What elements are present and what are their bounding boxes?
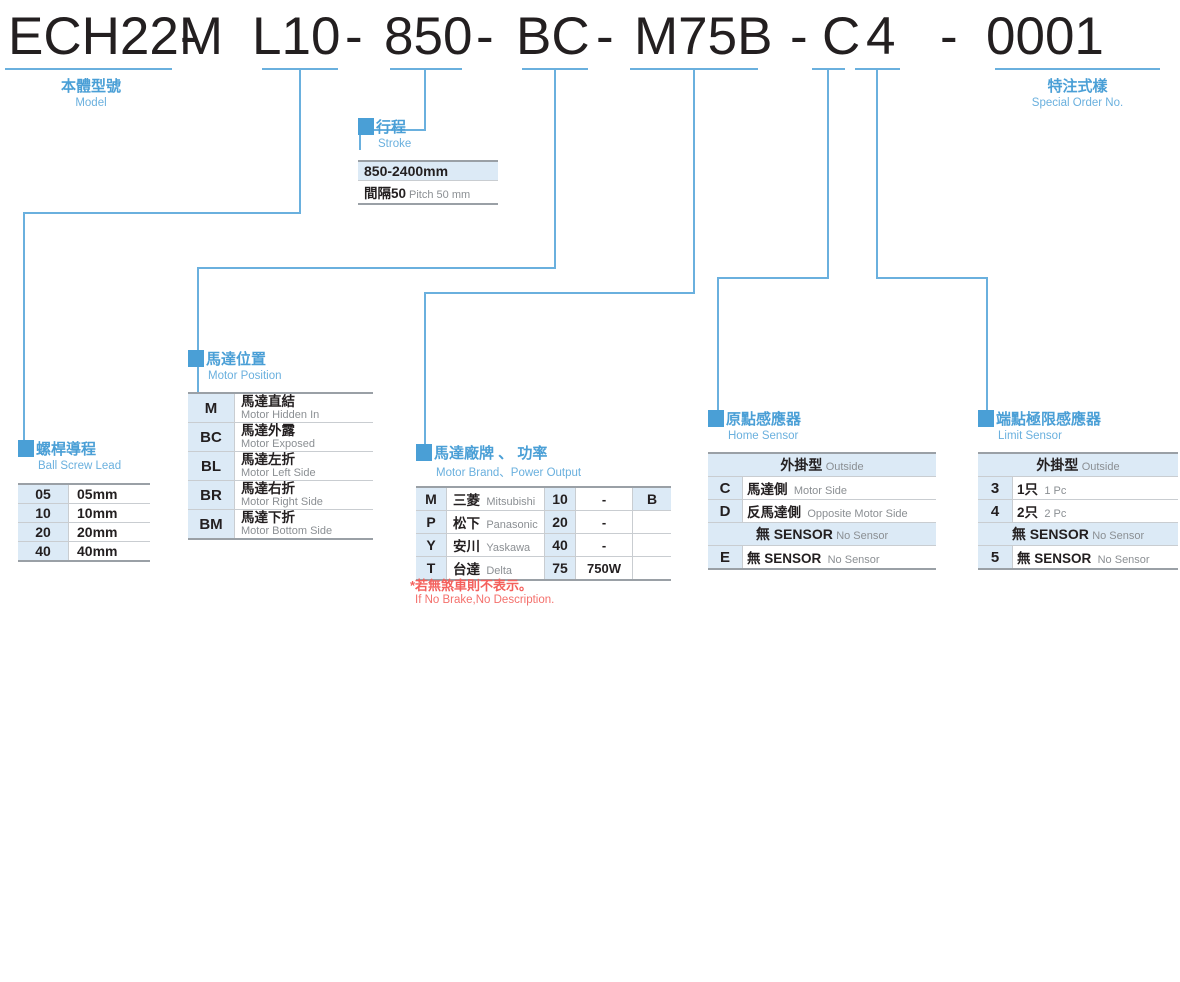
limit-sensor-desc: 無 SENSOR No Sensor [1013, 546, 1179, 570]
stroke-pitch-en: Pitch 50 mm [409, 189, 470, 201]
cell-zh: 無 SENSOR [1012, 526, 1089, 542]
table-row[interactable]: 4040mm [18, 542, 150, 562]
bullet-square-icon [18, 440, 34, 457]
cell-en: No Sensor [1092, 530, 1144, 542]
table-row: 外掛型 Outside [978, 453, 1178, 477]
group-motor-position-zh: 馬達位置 [206, 351, 266, 368]
cell-zh: 馬達下折 [241, 511, 369, 525]
group-special-order: 特注式樣 Special Order No. [1010, 78, 1145, 109]
group-special-order-zh: 特注式樣 [1047, 78, 1107, 95]
motor-brand-note: *若無煞車則不表示。 If No Brake,No Description. [410, 578, 554, 607]
group-motor-position-en: Motor Position [208, 370, 282, 382]
ball-screw-lead-table: 0505mm1010mm2020mm4040mm [18, 483, 150, 562]
group-ball-screw-lead-en: Ball Screw Lead [38, 460, 121, 472]
cell-zh: 2只 [1017, 505, 1038, 520]
cell-zh: 馬達外露 [241, 424, 369, 438]
motor-position-desc: 馬達外露Motor Exposed [235, 423, 374, 452]
motor-power-code: 40 [545, 534, 576, 557]
motor-brake-code [633, 534, 672, 557]
table-row[interactable]: M三菱 Mitsubishi10-B [416, 487, 671, 511]
motor-brake-code: B [633, 487, 672, 511]
cell-en: Yaskawa [486, 542, 530, 554]
stroke-range: 850-2400mm [358, 161, 498, 181]
home-sensor-body: 外掛型 OutsideC馬達側 Motor SideD反馬達側 Opposite… [708, 453, 936, 569]
motor-position-code: BC [188, 423, 235, 452]
group-motor-brand-en: Motor Brand、Power Output [436, 464, 581, 480]
motor-position-desc: 馬達左折Motor Left Side [235, 452, 374, 481]
motor-power-value: - [576, 534, 633, 557]
limit-sensor-body: 外掛型 Outside31只 1 Pc42只 2 Pc無 SENSOR No S… [978, 453, 1178, 569]
motor-brand-code: T [416, 557, 447, 581]
limit-sensor-desc: 1只 1 Pc [1013, 477, 1179, 500]
table-row[interactable]: 2020mm [18, 523, 150, 542]
cell-en: 1 Pc [1044, 485, 1066, 497]
pn-seg-1: L10 [252, 6, 340, 67]
cell-en: Outside [826, 461, 864, 473]
home-sensor-table: 外掛型 OutsideC馬達側 Motor SideD反馬達側 Opposite… [708, 452, 936, 570]
bullet-square-icon [416, 444, 432, 461]
cell-zh: 1只 [1017, 482, 1038, 497]
cell-zh: 台達 [453, 562, 480, 577]
cell-zh: 無 SENSOR [756, 526, 833, 542]
motor-position-desc: 馬達直結Motor Hidden In [235, 393, 374, 423]
motor-position-desc: 馬達下折Motor Bottom Side [235, 510, 374, 540]
cell-en: Delta [486, 565, 512, 577]
motor-position-body: M馬達直結Motor Hidden InBC馬達外露Motor ExposedB… [188, 393, 373, 539]
motor-power-code: 10 [545, 487, 576, 511]
motor-brand-note-en: If No Brake,No Description. [410, 593, 554, 607]
cell-en: 2 Pc [1044, 508, 1066, 520]
ball-screw-lead-body: 0505mm1010mm2020mm4040mm [18, 484, 150, 561]
table-row: 外掛型 Outside [708, 453, 936, 477]
pn-seg-2: 850 [384, 6, 472, 67]
motor-position-table: M馬達直結Motor Hidden InBC馬達外露Motor ExposedB… [188, 392, 373, 540]
cell-en: Motor Bottom Side [241, 525, 369, 537]
motor-brand-name: 台達 Delta [447, 557, 545, 581]
group-motor-brand-zh: 馬達廠牌 、 功率 [434, 445, 547, 462]
pn-seg-3: BC [516, 6, 590, 67]
group-limit-sensor-zh: 端點極限感應器 [996, 411, 1101, 428]
part-number: ECH22M - L10 - 850 - BC - M75B - C 4 - 0… [0, 6, 1180, 68]
home-sensor-code: D [708, 500, 743, 523]
motor-brand-name: 安川 Yaskawa [447, 534, 545, 557]
bullet-square-icon [978, 410, 994, 427]
table-row[interactable]: 1010mm [18, 504, 150, 523]
cell-en: No Sensor [828, 554, 880, 566]
motor-position-code: M [188, 393, 235, 423]
motor-position-code: BR [188, 481, 235, 510]
home-sensor-code: C [708, 477, 743, 500]
stroke-pitch: 間隔50Pitch 50 mm [358, 181, 498, 205]
table-row[interactable]: 5無 SENSOR No Sensor [978, 546, 1178, 570]
sensor-section-header: 外掛型 Outside [978, 453, 1178, 477]
motor-brand-code: P [416, 511, 447, 534]
motor-power-value: - [576, 511, 633, 534]
cell-zh: 外掛型 [1036, 457, 1078, 473]
sensor-section-header: 無 SENSOR No Sensor [978, 523, 1178, 546]
cell-en: Mitsubishi [486, 496, 535, 508]
motor-position-code: BM [188, 510, 235, 540]
group-model: 本體型號 Model [36, 78, 146, 109]
table-row[interactable]: 42只 2 Pc [978, 500, 1178, 523]
motor-brake-code [633, 511, 672, 534]
motor-position-code: BL [188, 452, 235, 481]
table-row[interactable]: P松下 Panasonic20- [416, 511, 671, 534]
group-home-sensor-en: Home Sensor [728, 430, 801, 442]
stroke-table: 850-2400mm 間隔50Pitch 50 mm [358, 160, 498, 205]
pn-seg-5: C [822, 6, 860, 67]
bullet-square-icon [708, 410, 724, 427]
table-row[interactable]: 0505mm [18, 484, 150, 504]
home-sensor-desc: 反馬達側 Opposite Motor Side [743, 500, 937, 523]
cell-en: No Sensor [836, 530, 888, 542]
home-sensor-desc: 無 SENSOR No Sensor [743, 546, 937, 570]
cell-en: Motor Left Side [241, 467, 369, 479]
motor-brand-code: Y [416, 534, 447, 557]
bullet-square-icon [358, 118, 374, 135]
home-sensor-code: E [708, 546, 743, 570]
pn-dash-5: - [940, 6, 958, 67]
motor-brand-name: 松下 Panasonic [447, 511, 545, 534]
cell-en: Panasonic [486, 519, 537, 531]
table-row[interactable]: BR馬達右折Motor Right Side [188, 481, 373, 510]
cell-en: Motor Exposed [241, 438, 369, 450]
cell-zh: 馬達右折 [241, 482, 369, 496]
motor-power-value: - [576, 487, 633, 511]
group-motor-position: 馬達位置 Motor Position [188, 350, 282, 382]
table-row[interactable]: E無 SENSOR No Sensor [708, 546, 936, 570]
group-motor-brand: 馬達廠牌 、 功率 Motor Brand、Power Output [416, 444, 581, 480]
lead-value: 05mm [69, 484, 151, 504]
cell-zh: 三菱 [453, 493, 480, 508]
cell-en: Outside [1082, 461, 1120, 473]
table-row[interactable]: BC馬達外露Motor Exposed [188, 423, 373, 452]
cell-zh: 反馬達側 [747, 505, 801, 520]
group-limit-sensor-en: Limit Sensor [998, 430, 1101, 442]
table-row[interactable]: BM馬達下折Motor Bottom Side [188, 510, 373, 540]
motor-power-code: 75 [545, 557, 576, 581]
group-stroke-zh: 行程 [376, 119, 406, 136]
lead-code: 10 [18, 504, 69, 523]
motor-brand-name: 三菱 Mitsubishi [447, 487, 545, 511]
pn-dash-3: - [596, 6, 614, 67]
table-row[interactable]: BL馬達左折Motor Left Side [188, 452, 373, 481]
table-row[interactable]: C馬達側 Motor Side [708, 477, 936, 500]
cell-zh: 馬達側 [747, 482, 788, 497]
table-row: 無 SENSOR No Sensor [708, 523, 936, 546]
lead-value: 20mm [69, 523, 151, 542]
limit-sensor-desc: 2只 2 Pc [1013, 500, 1179, 523]
motor-power-code: 20 [545, 511, 576, 534]
limit-sensor-code: 3 [978, 477, 1013, 500]
lead-code: 40 [18, 542, 69, 562]
lead-code: 20 [18, 523, 69, 542]
stroke-pitch-zh: 間隔50 [364, 186, 406, 201]
table-row: 無 SENSOR No Sensor [978, 523, 1178, 546]
lead-code: 05 [18, 484, 69, 504]
pn-dash-4: - [790, 6, 808, 67]
cell-zh: 無 SENSOR [1017, 551, 1091, 566]
motor-power-value: 750W [576, 557, 633, 581]
pn-seg-6: 4 [866, 6, 895, 67]
group-ball-screw-lead: 螺桿導程 Ball Screw Lead [18, 440, 121, 472]
motor-position-desc: 馬達右折Motor Right Side [235, 481, 374, 510]
pn-dash-0: - [180, 6, 198, 67]
cell-zh: 安川 [453, 539, 480, 554]
pn-dash-2: - [476, 6, 494, 67]
limit-sensor-code: 4 [978, 500, 1013, 523]
cell-en: Motor Hidden In [241, 409, 369, 421]
limit-sensor-table: 外掛型 Outside31只 1 Pc42只 2 Pc無 SENSOR No S… [978, 452, 1178, 570]
cell-zh: 外掛型 [780, 457, 822, 473]
group-special-order-en: Special Order No. [1010, 97, 1145, 109]
home-sensor-desc: 馬達側 Motor Side [743, 477, 937, 500]
lead-value: 10mm [69, 504, 151, 523]
cell-zh: 無 SENSOR [747, 551, 821, 566]
table-row[interactable]: M馬達直結Motor Hidden In [188, 393, 373, 423]
group-ball-screw-lead-zh: 螺桿導程 [36, 441, 96, 458]
group-limit-sensor: 端點極限感應器 Limit Sensor [978, 410, 1101, 442]
pn-seg-4: M75B [634, 6, 772, 67]
cell-zh: 馬達左折 [241, 453, 369, 467]
group-stroke-en: Stroke [378, 138, 411, 150]
pn-dash-1: - [345, 6, 363, 67]
table-row: 間隔50Pitch 50 mm [358, 181, 498, 205]
table-row[interactable]: 31只 1 Pc [978, 477, 1178, 500]
cell-en: Motor Side [794, 485, 847, 497]
group-model-zh: 本體型號 [61, 78, 121, 95]
motor-brand-table: M三菱 Mitsubishi10-BP松下 Panasonic20-Y安川 Ya… [416, 486, 671, 581]
motor-brand-body: M三菱 Mitsubishi10-BP松下 Panasonic20-Y安川 Ya… [416, 487, 671, 580]
motor-brake-code [633, 557, 672, 581]
motor-brand-code: M [416, 487, 447, 511]
sensor-section-header: 無 SENSOR No Sensor [708, 523, 936, 546]
table-row: 850-2400mm [358, 161, 498, 181]
part-number-configurator-diagram: ECH22M - L10 - 850 - BC - M75B - C 4 - 0… [0, 0, 1180, 627]
cell-en: No Sensor [1098, 554, 1150, 566]
cell-zh: 馬達直結 [241, 395, 369, 409]
lead-value: 40mm [69, 542, 151, 562]
pn-seg-7: 0001 [986, 6, 1104, 67]
group-model-en: Model [36, 97, 146, 109]
sensor-section-header: 外掛型 Outside [708, 453, 936, 477]
limit-sensor-code: 5 [978, 546, 1013, 570]
motor-brand-note-zh: *若無煞車則不表示。 [410, 578, 554, 593]
table-row[interactable]: D反馬達側 Opposite Motor Side [708, 500, 936, 523]
cell-en: Opposite Motor Side [807, 508, 907, 520]
group-home-sensor-zh: 原點感應器 [726, 411, 801, 428]
group-stroke: 行程 Stroke [358, 118, 411, 150]
cell-en: Motor Right Side [241, 496, 369, 508]
bullet-square-icon [188, 350, 204, 367]
table-row[interactable]: T台達 Delta75750W [416, 557, 671, 581]
table-row[interactable]: Y安川 Yaskawa40- [416, 534, 671, 557]
group-home-sensor: 原點感應器 Home Sensor [708, 410, 801, 442]
cell-zh: 松下 [453, 516, 480, 531]
